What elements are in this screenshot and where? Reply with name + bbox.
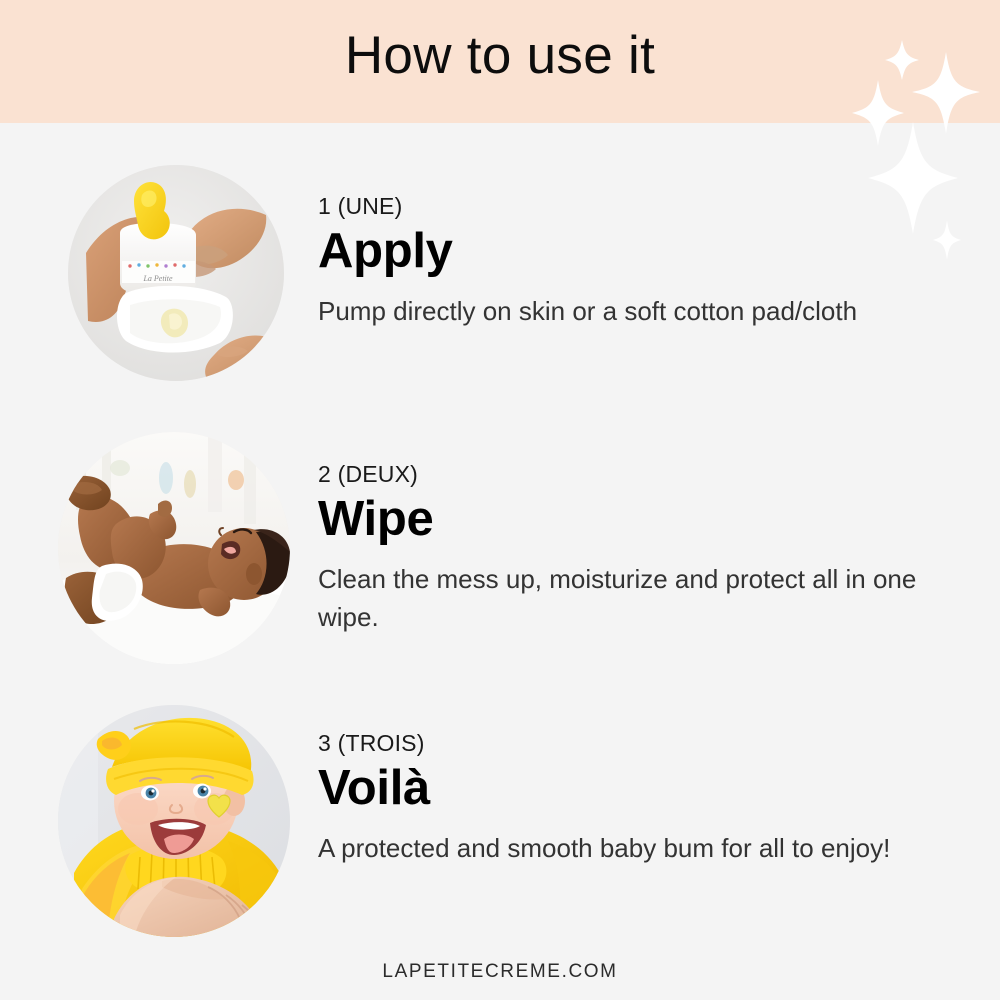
- step-3-description: A protected and smooth baby bum for all …: [318, 830, 943, 868]
- wipe-baby-illustration: [58, 432, 290, 664]
- step-3-photo: [58, 705, 290, 937]
- step-2-description: Clean the mess up, moisturize and protec…: [318, 561, 943, 636]
- step-item-1: La Petite 1 (UNE) Apply Pump directly on…: [0, 160, 1000, 390]
- footer-website-url[interactable]: LAPETITECREME.COM: [0, 961, 1000, 983]
- page-title: How to use it: [0, 26, 1000, 87]
- step-item-3: 3 (TROIS) Voilà A protected and smooth b…: [0, 703, 1000, 939]
- step-1-photo: La Petite: [68, 165, 284, 381]
- step-1-text-block: 1 (UNE) Apply Pump directly on skin or a…: [318, 192, 968, 331]
- step-2-title: Wipe: [318, 491, 968, 547]
- step-1-description: Pump directly on skin or a soft cotton p…: [318, 293, 943, 331]
- step-2-text-block: 2 (DEUX) Wipe Clean the mess up, moistur…: [318, 460, 968, 636]
- step-3-title: Voilà: [318, 760, 968, 816]
- step-1-title: Apply: [318, 223, 968, 279]
- step-3-text-block: 3 (TROIS) Voilà A protected and smooth b…: [318, 729, 968, 868]
- svg-text:La Petite: La Petite: [142, 274, 173, 283]
- apply-cream-illustration: La Petite: [68, 165, 284, 381]
- step-2-photo: [58, 432, 290, 664]
- happy-baby-illustration: [58, 705, 290, 937]
- step-3-number: 3 (TROIS): [318, 729, 968, 758]
- step-item-2: 2 (DEUX) Wipe Clean the mess up, moistur…: [0, 432, 1000, 672]
- step-1-number: 1 (UNE): [318, 192, 968, 221]
- step-2-number: 2 (DEUX): [318, 460, 968, 489]
